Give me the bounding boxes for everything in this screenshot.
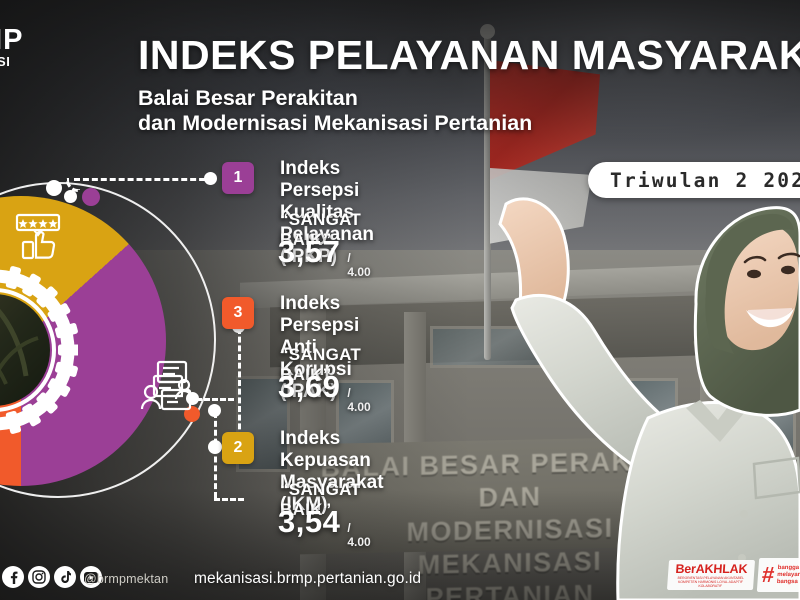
bangga-line-1: bangga (777, 565, 800, 572)
orbit-node-top (46, 180, 62, 196)
bangga-melayani-bangsa-logo: # bangga melayani bangsa (757, 558, 800, 592)
index-number-badge: 3 (222, 297, 254, 329)
officer-photo-cutout (498, 196, 800, 600)
facebook-icon[interactable] (2, 566, 24, 588)
index-score-max: / 4.00 (347, 521, 370, 549)
hash-icon: # (761, 565, 775, 585)
bangga-line-3: bangsa (777, 579, 800, 586)
logo-line-1: MP (0, 26, 74, 54)
gear-icon (0, 266, 78, 434)
connector-node (64, 190, 77, 203)
index-score-value: 3,69 (278, 369, 340, 405)
connector-line (214, 412, 217, 498)
footer-bar: @brmpmektan mekanisasi.brmp.pertanian.go… (0, 556, 800, 600)
instagram-icon[interactable] (28, 566, 50, 588)
page-subtitle: Balai Besar Perakitan dan Modernisasi Me… (138, 86, 532, 136)
connector-line (238, 328, 241, 438)
connector-line (196, 398, 234, 401)
connector-node (204, 172, 217, 185)
brmp-mekanisasi-logo: MP SASI (0, 26, 74, 70)
index-number-badge: 1 (222, 162, 254, 194)
index-score: 3,54 / 4.00 (278, 504, 371, 549)
index-score-max: / 4.00 (347, 251, 370, 279)
connector-node (208, 404, 221, 417)
index-score-value: 3,57 (278, 234, 340, 270)
berakhlak-tagline: BERORIENTASI PELAYANAN AKUNTABEL KOMPETE… (667, 576, 754, 589)
tiktok-icon[interactable] (54, 566, 76, 588)
connector-line (74, 178, 214, 181)
survey-people-icon (140, 360, 192, 412)
quarter-badge-label: Triwulan 2 2024 (610, 169, 800, 192)
index-score-max: / 4.00 (347, 386, 370, 414)
index-donut-chart (0, 188, 212, 488)
connector-line (214, 498, 244, 501)
index-score: 3,57 / 4.00 (278, 234, 371, 279)
page-title: INDEKS PELAYANAN MASYARAKAT (138, 32, 800, 79)
index-score: 3,69 / 4.00 (278, 369, 371, 414)
berakhlak-logo: BerAKHLAK BERORIENTASI PELAYANAN AKUNTAB… (667, 560, 755, 590)
index-number-badge: 2 (222, 432, 254, 464)
berakhlak-name: BerAKHLAK (675, 562, 748, 576)
logo-line-2: SASI (0, 54, 74, 70)
quarter-badge: Triwulan 2 2024 (588, 162, 800, 198)
orbit-node-purple (82, 188, 100, 206)
connector-node (186, 392, 199, 405)
infographic-canvas: BALAI BESAR PERAKITAN DAN MODERNISASI ME… (0, 0, 800, 600)
index-score-value: 3,54 (278, 504, 340, 540)
website-url[interactable]: mekanisasi.brmp.pertanian.go.id (194, 570, 421, 588)
thumbs-up-rating-icon (12, 212, 64, 264)
social-handle: @brmpmektan (84, 572, 168, 586)
bangga-line-2: melayani (777, 572, 800, 579)
